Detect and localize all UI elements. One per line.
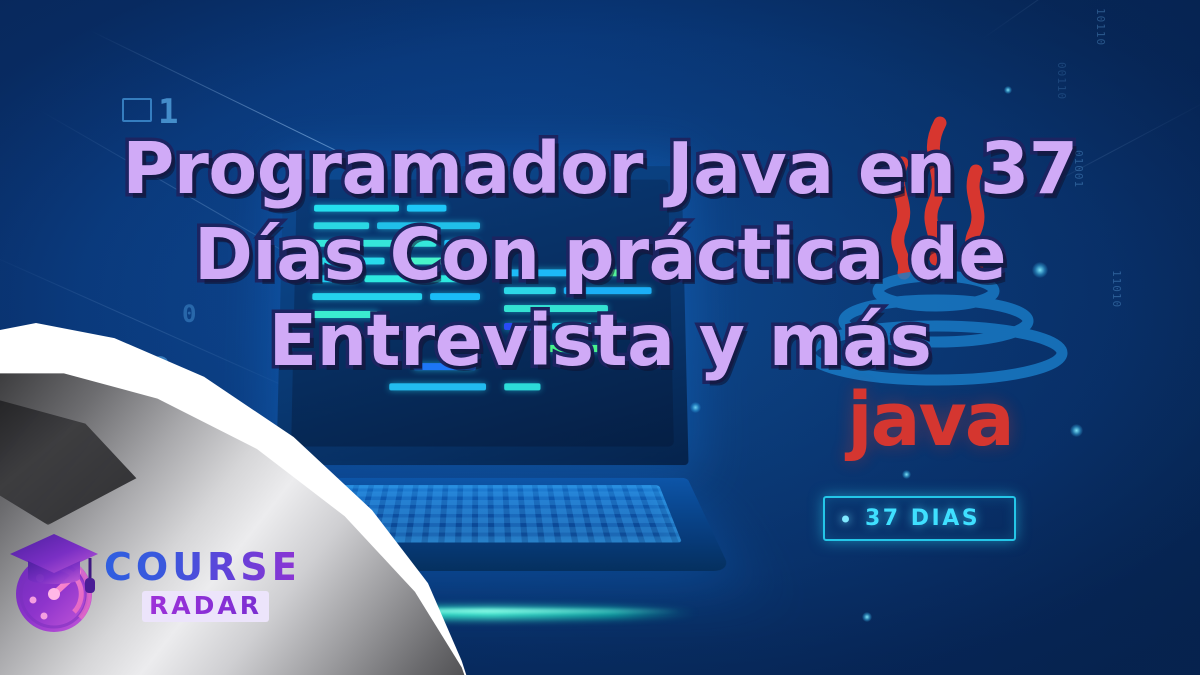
brand-name-primary: COURSES: [104, 546, 294, 588]
title-line-2: Días Con práctica de: [194, 213, 1006, 296]
java-wordmark: java: [800, 377, 1060, 463]
badge-dot-icon: [842, 515, 849, 522]
graduation-cap-radar-icon: [8, 528, 100, 636]
badge-label: 37 DIAS: [865, 506, 980, 531]
binary-stream: 10110: [1094, 8, 1107, 46]
brand-name-secondary: RADAR: [149, 591, 262, 620]
title-line-3: Entrevista y más: [269, 299, 932, 382]
brand-wordmark: COURSES RADAR: [104, 546, 294, 622]
glow-dot: [1004, 86, 1012, 94]
thumbnail-canvas: 1 0 1 0 10110 01001 11010 00110: [0, 0, 1200, 675]
page-title: Programador Java en 37Días Con práctica …: [40, 126, 1160, 384]
title-line-1: Programador Java en 37: [122, 127, 1077, 210]
brand-logo[interactable]: COURSES RADAR: [8, 524, 298, 644]
glow-dot: [862, 612, 872, 622]
binary-stream: 00110: [1055, 62, 1068, 100]
brand-name-secondary-pill: RADAR: [142, 591, 269, 622]
glow-dot: [902, 470, 911, 479]
duration-badge: 37 DIAS: [823, 496, 1016, 541]
tech-square-motif: [122, 98, 152, 122]
